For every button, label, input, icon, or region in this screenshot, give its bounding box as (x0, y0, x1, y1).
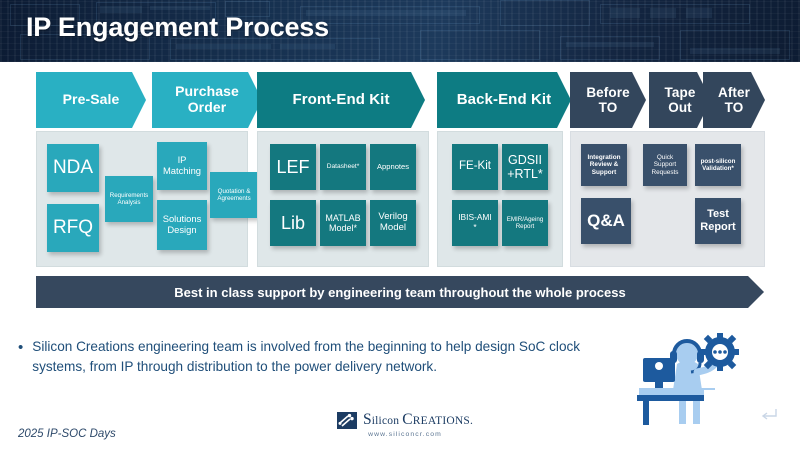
node-qa[interactable]: Q&A (581, 198, 631, 244)
phase-chevron-purchase-order[interactable]: PurchaseOrder (152, 72, 262, 128)
page-number: 15 (764, 429, 780, 445)
node-verilog-model[interactable]: VerilogModel (370, 200, 416, 246)
phase-chevron-tape-out[interactable]: TapeOut (649, 72, 711, 128)
logo-name-second-rest: REATIONS (413, 415, 470, 427)
node-label: NDA (53, 157, 93, 179)
node-integration-review-support[interactable]: IntegrationReview &Support (581, 144, 627, 186)
node-post-silicon-validation[interactable]: post-siliconValidation* (695, 144, 741, 186)
node-label: Lib (281, 213, 305, 234)
phase-label: Front-End Kit (292, 92, 389, 109)
node-emir-ageing-report[interactable]: EMIR/AgeingReport (502, 200, 548, 246)
header-banner: IP Engagement Process (0, 0, 800, 62)
phase-label: PurchaseOrder (175, 84, 239, 115)
phase-label: Back-End Kit (457, 92, 552, 109)
node-datasheet[interactable]: Datasheet* (320, 144, 366, 190)
logo-period: . (470, 415, 473, 427)
node-label: TestReport (700, 208, 735, 233)
panel-post-tapeout-support: IntegrationReview &Support QuickSupportR… (570, 131, 765, 267)
footer-event-label: 2025 IP-SOC Days (18, 428, 116, 440)
node-ibis-ami[interactable]: IBIS-AMI* (452, 200, 498, 246)
node-label: QuickSupportRequests (652, 154, 679, 176)
node-nda[interactable]: NDA (47, 144, 99, 192)
panel-front-end-kit: LEF Datasheet* Appnotes Lib MATLABModel*… (257, 131, 429, 267)
phase-chevron-before-to[interactable]: BeforeTO (570, 72, 646, 128)
node-label: IBIS-AMI* (458, 213, 492, 232)
page-number-corner: 15 (704, 390, 800, 450)
node-label: RFQ (53, 217, 93, 239)
node-label: Appnotes (377, 163, 409, 172)
bullet-marker: • (18, 337, 23, 377)
return-arrow-icon[interactable] (760, 408, 778, 422)
node-label: IntegrationReview &Support (587, 154, 620, 176)
phase-chevron-after-to[interactable]: AfterTO (703, 72, 765, 128)
node-quotation-agreements[interactable]: Quotation &Agreements (210, 172, 258, 218)
node-quick-support-requests[interactable]: QuickSupportRequests (643, 144, 687, 186)
phase-chevron-pre-sale[interactable]: Pre-Sale (36, 72, 146, 128)
logo-name-second: C (402, 411, 413, 428)
node-label: FE-Kit (459, 160, 491, 173)
node-solutions-design[interactable]: SolutionsDesign (157, 200, 207, 250)
node-test-report[interactable]: TestReport (695, 198, 741, 244)
brand-logo-url: www.siliconcr.com (330, 431, 480, 438)
panel-back-end-kit: FE-Kit GDSII+RTL* IBIS-AMI* EMIR/AgeingR… (437, 131, 563, 267)
phase-label: TapeOut (665, 85, 696, 115)
node-label: Q&A (587, 211, 625, 230)
node-label: SolutionsDesign (163, 214, 202, 235)
node-label: EMIR/AgeingReport (507, 216, 543, 230)
node-lib[interactable]: Lib (270, 200, 316, 246)
node-appnotes[interactable]: Appnotes (370, 144, 416, 190)
node-requirements-analysis[interactable]: RequirementsAnalysis (105, 176, 153, 222)
phase-chevron-front-end-kit[interactable]: Front-End Kit (257, 72, 425, 128)
gear-icon (701, 333, 739, 371)
node-label: IPMatching (163, 155, 201, 176)
phase-chevron-row: Pre-Sale PurchaseOrder Front-End Kit Bac… (0, 72, 800, 128)
node-label: RequirementsAnalysis (110, 192, 149, 206)
logo-name-first-rest: ilicon (372, 415, 402, 427)
logo-name-first: S (363, 411, 372, 428)
node-label: Quotation &Agreements (217, 188, 250, 202)
node-label: Datasheet* (327, 163, 360, 171)
bullet-list: • Silicon Creations engineering team is … (18, 337, 628, 377)
support-banner: Best in class support by engineering tea… (36, 276, 764, 308)
phase-label: AfterTO (718, 85, 750, 115)
node-ip-matching[interactable]: IPMatching (157, 142, 207, 190)
node-rfq[interactable]: RFQ (47, 204, 99, 252)
page-title: IP Engagement Process (26, 12, 329, 43)
node-label: GDSII+RTL* (507, 153, 543, 182)
phase-chevron-back-end-kit[interactable]: Back-End Kit (437, 72, 571, 128)
silicon-creations-logo-icon (337, 412, 357, 429)
brand-logo: Silicon CREATIONS. www.siliconcr.com (330, 411, 480, 438)
node-label: MATLABModel* (325, 213, 360, 234)
node-label: VerilogModel (378, 212, 407, 234)
phase-label: BeforeTO (586, 85, 629, 115)
node-lef[interactable]: LEF (270, 144, 316, 190)
node-matlab-model[interactable]: MATLABModel* (320, 200, 366, 246)
node-label: post-siliconValidation* (701, 158, 736, 172)
support-banner-text: Best in class support by engineering tea… (174, 285, 625, 300)
slide-canvas: IP Engagement Process Pre-Sale PurchaseO… (0, 0, 800, 450)
node-label: LEF (276, 157, 309, 178)
bullet-text: Silicon Creations engineering team is in… (32, 337, 628, 377)
panel-pre-sale-purchase-order: NDA RFQ RequirementsAnalysis IPMatching … (36, 131, 248, 267)
node-gdsii-rtl[interactable]: GDSII+RTL* (502, 144, 548, 190)
node-fe-kit[interactable]: FE-Kit (452, 144, 498, 190)
brand-logo-wordmark: Silicon CREATIONS. (363, 411, 473, 429)
phase-label: Pre-Sale (63, 92, 120, 108)
